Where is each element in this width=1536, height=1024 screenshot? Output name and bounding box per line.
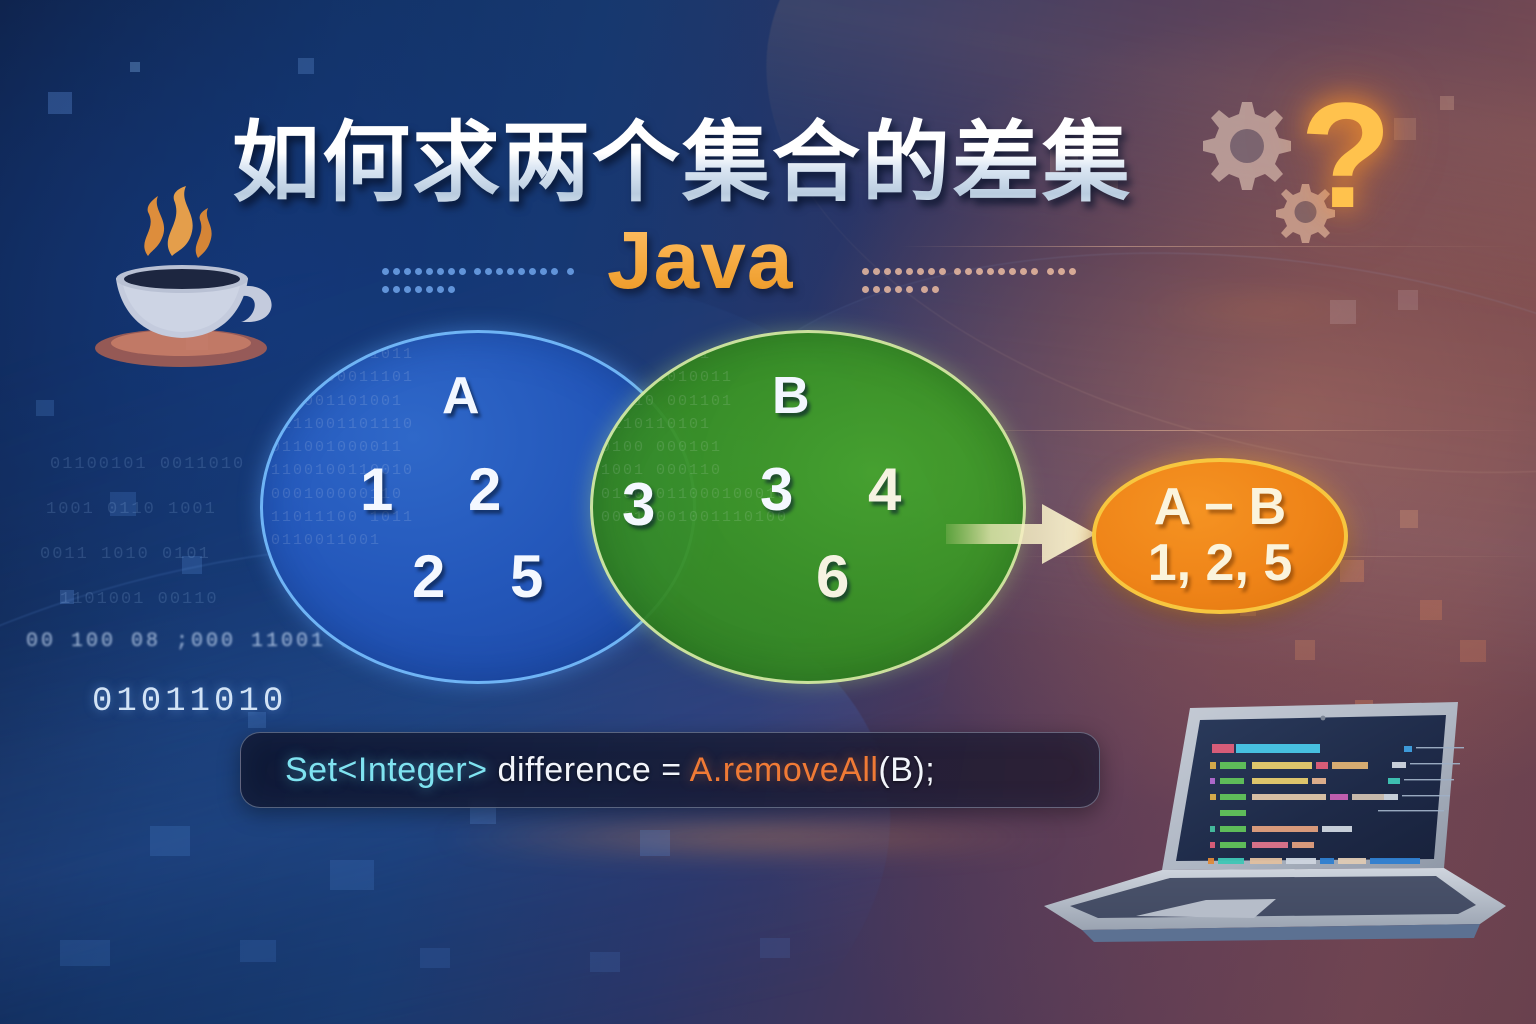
- code-token-plain: difference =: [488, 751, 690, 789]
- venn-element-b-3: 6: [816, 542, 849, 611]
- bokeh-square: [298, 58, 314, 74]
- bokeh-square: [1460, 640, 1486, 662]
- title-dots-left: [382, 262, 582, 270]
- page-title: 如何求两个集合的差集: [232, 92, 1192, 219]
- bokeh-square: [60, 590, 74, 604]
- bokeh-square: [1440, 96, 1454, 110]
- venn-element-b-1: 3: [760, 455, 793, 524]
- bokeh-square: [110, 492, 136, 516]
- venn-element-a-4: 5: [510, 542, 543, 611]
- bokeh-square: [1340, 560, 1364, 582]
- venn-label-b: B: [772, 366, 810, 426]
- bokeh-square: [1330, 300, 1356, 324]
- bokeh-square: [760, 938, 790, 958]
- bokeh-square: [420, 948, 450, 968]
- bokeh-square: [330, 860, 374, 890]
- binary-text: 01011010: [92, 683, 287, 721]
- binary-watermark: 1101001 00110: [60, 590, 219, 609]
- arrow-right-icon: [946, 496, 1106, 572]
- bokeh-square: [60, 940, 110, 966]
- result-bubble: A − B 1, 2, 5: [1092, 458, 1348, 614]
- venn-element-a-2: 2: [468, 455, 501, 524]
- binary-watermark: 1001 0110 1001: [46, 500, 217, 519]
- title-dots-right: [862, 262, 1082, 270]
- result-title: A − B: [1154, 481, 1286, 534]
- code-token-type: Set<Integer>: [285, 751, 488, 789]
- venn-element-a-1: 1: [360, 455, 393, 524]
- venn-label-a: A: [442, 366, 480, 426]
- background-hairline: [960, 430, 1536, 431]
- laptop-icon: [1040, 700, 1510, 950]
- venn-element-intersection-1: 3: [622, 470, 655, 539]
- code-snippet-bar: Set<Integer> difference = A.removeAll(B)…: [240, 732, 1100, 808]
- bokeh-square: [248, 712, 266, 728]
- bokeh-square: [1400, 510, 1418, 528]
- bokeh-square: [130, 62, 140, 72]
- bokeh-square: [182, 556, 202, 574]
- bokeh-square: [36, 400, 54, 416]
- code-token-args: (B);: [878, 751, 935, 789]
- code-snippet: Set<Integer> difference = A.removeAll(B)…: [285, 751, 935, 790]
- question-mark-icon: ?: [1300, 80, 1392, 230]
- background-glow-streak: [430, 820, 1070, 854]
- venn-element-b-2: 4: [868, 455, 901, 524]
- thumbnail-canvas: 01100101 0011010 1001 0110 1001 0011 101…: [0, 0, 1536, 1024]
- bokeh-square: [1420, 600, 1442, 620]
- subtitle-java: Java: [607, 214, 793, 308]
- bokeh-square: [1394, 118, 1416, 140]
- binary-watermark: 0011 1010 0101: [40, 545, 211, 564]
- result-items: 1, 2, 5: [1148, 536, 1293, 591]
- binary-watermark: 01100101 0011010: [50, 455, 245, 474]
- background-glow-streak: [1130, 300, 1390, 318]
- venn-element-a-3: 2: [412, 542, 445, 611]
- code-token-call: A.removeAll: [690, 751, 879, 789]
- bokeh-square: [48, 92, 72, 114]
- bokeh-square: [240, 940, 276, 962]
- bokeh-square: [150, 826, 190, 856]
- bokeh-square: [1398, 290, 1418, 310]
- bokeh-square: [640, 830, 670, 856]
- bokeh-square: [1295, 640, 1315, 660]
- bokeh-square: [590, 952, 620, 972]
- venn-diagram: 00110000 1011 0010100011101 110001101001…: [260, 330, 1020, 680]
